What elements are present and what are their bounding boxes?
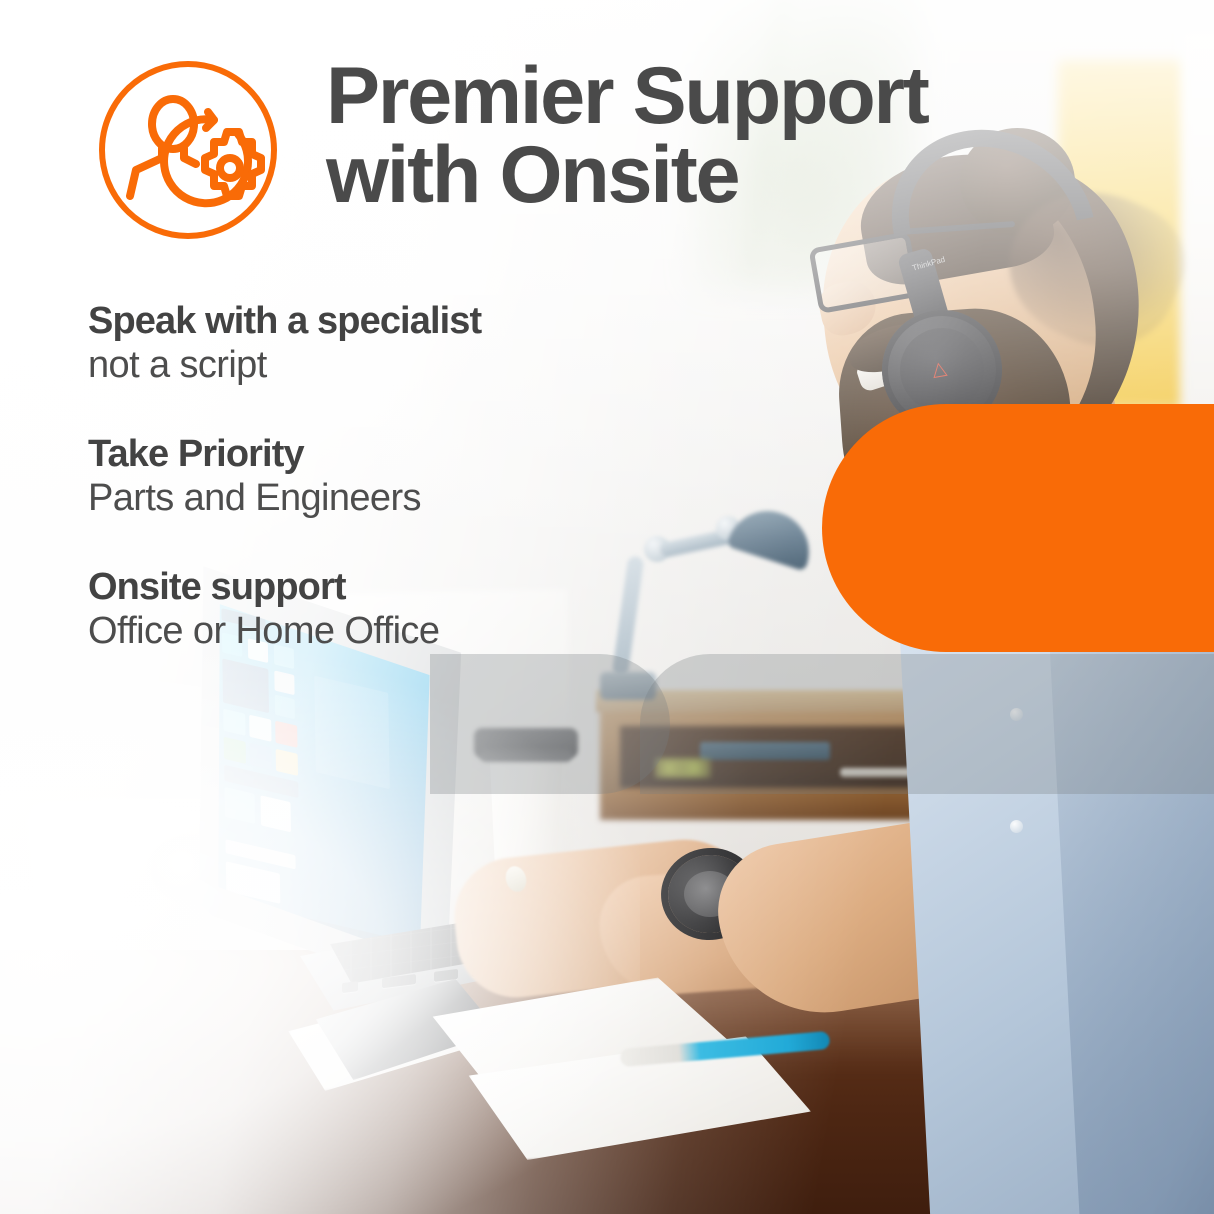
premier-support-person-gear-icon [96, 58, 280, 242]
marketing-banner: ThinkPad △ [0, 0, 1214, 1214]
feature-headline: Onsite support [88, 566, 728, 609]
feature-item: Take Priority Parts and Engineers [88, 433, 728, 521]
feature-headline: Speak with a specialist [88, 300, 728, 343]
feature-subline: Parts and Engineers [88, 476, 728, 522]
page-title: Premier Support with Onsite [326, 57, 1066, 216]
feature-subline: Office or Home Office [88, 609, 728, 655]
feature-item: Onsite support Office or Home Office [88, 566, 728, 654]
page-title-line-1: Premier Support [326, 57, 1066, 136]
page-title-line-2: with Onsite [326, 136, 1066, 215]
orange-accent-shape [822, 404, 1214, 652]
feature-subline: not a script [88, 343, 728, 389]
feature-headline: Take Priority [88, 433, 728, 476]
feature-list: Speak with a specialist not a script Tak… [88, 300, 728, 699]
feature-item: Speak with a specialist not a script [88, 300, 728, 388]
